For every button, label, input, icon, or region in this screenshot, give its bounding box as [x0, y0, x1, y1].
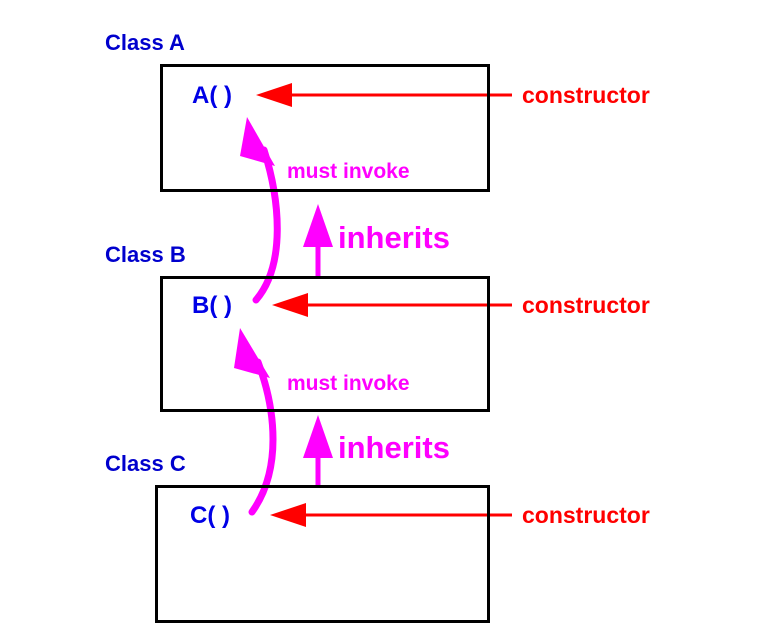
must-invoke-label-b-to-a: must invoke [287, 160, 410, 184]
inherits-arrow-b-to-a [303, 204, 333, 276]
inherits-label-b-to-a: inherits [338, 220, 450, 256]
inherits-arrow-c-to-b [303, 415, 333, 485]
constructor-caption-b: constructor [522, 292, 650, 319]
constructor-caption-a: constructor [522, 82, 650, 109]
must-invoke-label-c-to-b: must invoke [287, 372, 410, 396]
diagram-canvas: Class A A( ) constructor must invoke inh… [0, 0, 774, 641]
constructor-caption-c: constructor [522, 502, 650, 529]
constructor-name-a: A( ) [192, 82, 232, 110]
constructor-name-c: C( ) [190, 502, 230, 530]
class-label-b: Class B [105, 242, 186, 268]
class-label-a: Class A [105, 30, 185, 56]
inherits-label-c-to-b: inherits [338, 430, 450, 466]
class-label-c: Class C [105, 451, 186, 477]
constructor-name-b: B( ) [192, 292, 232, 320]
